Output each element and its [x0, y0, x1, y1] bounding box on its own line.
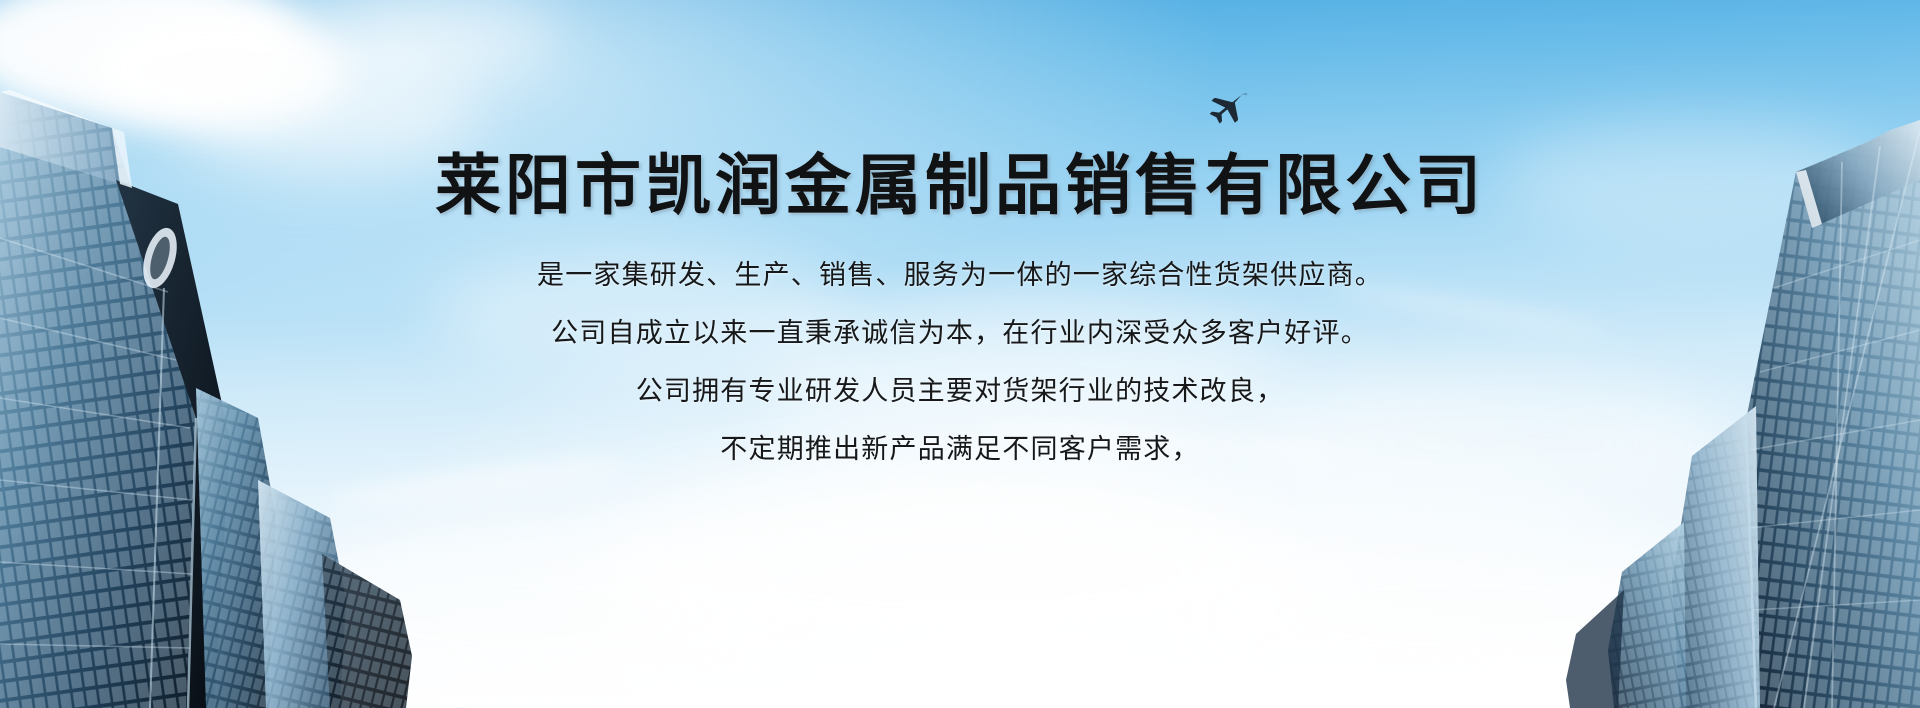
description-line-4: 不定期推出新产品满足不同客户需求， — [720, 436, 1199, 463]
banner-text-container: 莱阳市凯润金属制品销售有限公司 是一家集研发、生产、销售、服务为一体的一家综合性… — [0, 0, 1920, 708]
description-line-1: 是一家集研发、生产、销售、服务为一体的一家综合性货架供应商。 — [537, 262, 1383, 289]
description-line-2: 公司自成立以来一直秉承诚信为本，在行业内深受众多客户好评。 — [551, 320, 1369, 347]
company-hero-banner: 莱阳市凯润金属制品销售有限公司 是一家集研发、生产、销售、服务为一体的一家综合性… — [0, 0, 1920, 708]
page-title: 莱阳市凯润金属制品销售有限公司 — [435, 152, 1485, 218]
description-line-3: 公司拥有专业研发人员主要对货架行业的技术改良， — [636, 378, 1285, 405]
